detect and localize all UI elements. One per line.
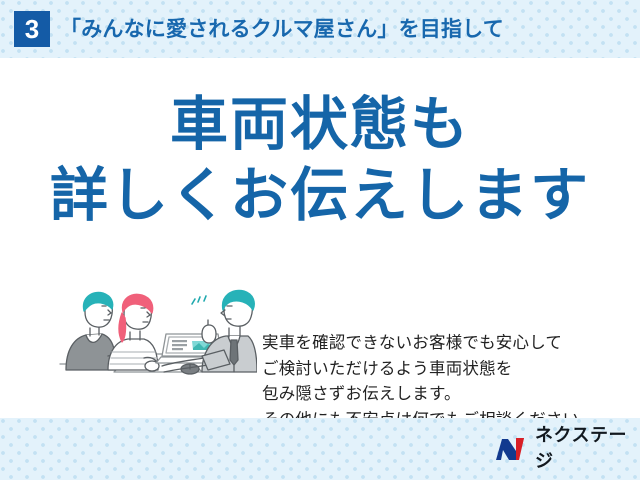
speech-sparkle-icon xyxy=(192,296,206,304)
headline-line-1: 車両状態も xyxy=(0,94,640,155)
step-number-badge: 3 xyxy=(14,11,50,47)
body-copy-line-1: 実車を確認できないお客様でも安心して xyxy=(262,330,632,356)
illustration-and-copy-row: 実車を確認できないお客様でも安心して ご検討いただけるよう車両状態を 包み隠さず… xyxy=(0,270,640,400)
headline: 車両状態も 詳しくお伝えします xyxy=(0,94,640,227)
consultation-illustration xyxy=(52,268,257,383)
headline-line-2: 詳しくお伝えします xyxy=(0,165,640,226)
body-copy-line-3: 包み隠さずお伝えします。 xyxy=(262,381,632,407)
content-area: 車両状態も 詳しくお伝えします xyxy=(0,58,640,418)
promo-banner: 3 「みんなに愛されるクルマ屋さん」を目指して 車両状態も 詳しくお伝えします xyxy=(0,0,640,480)
nextage-n-logo-icon xyxy=(495,436,529,462)
body-copy-line-2: ご検討いただけるよう車両状態を xyxy=(262,356,632,382)
brand-logo: ネクステージ xyxy=(495,435,640,463)
header-title: 「みんなに愛されるクルマ屋さん」を目指して xyxy=(60,14,504,46)
brand-name: ネクステージ xyxy=(535,423,640,475)
body-copy: 実車を確認できないお客様でも安心して ご検討いただけるよう車両状態を 包み隠さず… xyxy=(262,330,632,432)
